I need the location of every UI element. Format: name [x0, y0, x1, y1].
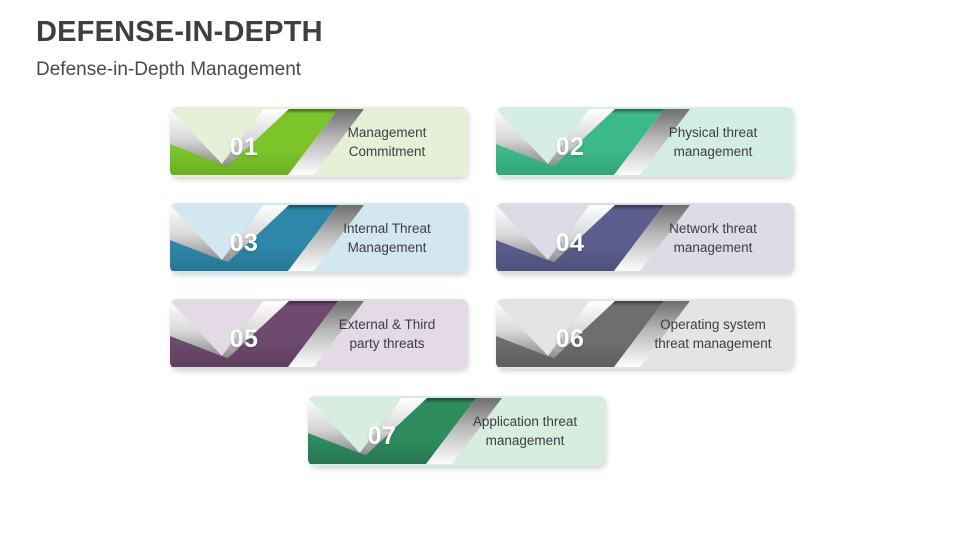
- step-card-04[interactable]: 04Network threatmanagement: [496, 203, 794, 273]
- step-card-01[interactable]: 01ManagementCommitment: [170, 107, 468, 177]
- step-card-03[interactable]: 03Internal ThreatManagement: [170, 203, 468, 273]
- ribbon-artwork: [170, 299, 468, 369]
- ribbon-artwork: [496, 107, 794, 177]
- ribbon-artwork: [170, 107, 468, 177]
- card-grid: 01ManagementCommitment02Physical threatm…: [0, 0, 960, 540]
- ribbon-artwork: [308, 396, 606, 466]
- step-card-05[interactable]: 05External & Thirdparty threats: [170, 299, 468, 369]
- ribbon-artwork: [496, 203, 794, 273]
- ribbon-artwork: [170, 203, 468, 273]
- step-card-02[interactable]: 02Physical threatmanagement: [496, 107, 794, 177]
- step-card-07[interactable]: 07Application threatmanagement: [308, 396, 606, 466]
- step-card-06[interactable]: 06Operating systemthreat management: [496, 299, 794, 369]
- ribbon-artwork: [496, 299, 794, 369]
